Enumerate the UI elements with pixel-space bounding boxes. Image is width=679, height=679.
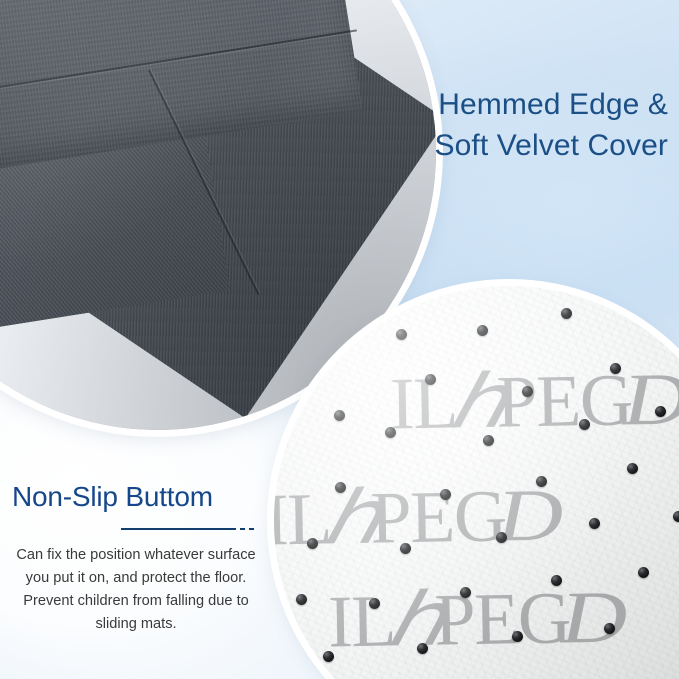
promo-graphic-canvas: ILℎPEGD ILℎPEGD ILℎPEGD Hemmed Edge & So… (0, 0, 679, 679)
feature-body-line: sliding mats. (12, 613, 260, 636)
anti-slip-dot (536, 476, 547, 487)
feature-description: Can fix the position whatever surface yo… (12, 544, 260, 636)
anti-slip-dot (323, 651, 334, 662)
divider-dash-2 (249, 528, 254, 530)
anti-slip-dot (425, 374, 436, 385)
anti-slip-dot (604, 623, 615, 634)
anti-slip-dot (627, 463, 638, 474)
headline-line-1: Hemmed Edge & (438, 88, 668, 121)
anti-slip-dot (512, 631, 523, 642)
feature-body-line: Can fix the position whatever surface (12, 544, 260, 567)
anti-slip-dot (296, 594, 307, 605)
anti-slip-dot (496, 532, 507, 543)
anti-slip-dot (307, 538, 318, 549)
anti-slip-dot (579, 419, 590, 430)
anti-slip-dot (522, 386, 533, 397)
brand-watermark-3: ILℎPEGD (327, 573, 616, 665)
anti-slip-dot (440, 489, 451, 500)
divider-dash-1 (240, 528, 245, 530)
anti-slip-dot (334, 410, 345, 421)
anti-slip-dot (655, 406, 666, 417)
anti-slip-dot (335, 482, 346, 493)
anti-slip-dot (561, 308, 572, 319)
brand-watermark-1: ILℎPEGD (389, 355, 678, 447)
divider-line (121, 528, 236, 530)
anti-slip-dot (385, 427, 396, 438)
headline-line-2: Soft Velvet Cover (435, 125, 668, 166)
feature-divider (12, 528, 260, 530)
brand-watermark-2: ILℎPEGD (274, 471, 553, 563)
headline-block: Hemmed Edge & Soft Velvet Cover (435, 84, 668, 167)
anti-slip-dot (483, 435, 494, 446)
anti-slip-dot (460, 587, 471, 598)
anti-slip-dot (551, 575, 562, 586)
anti-slip-dot (673, 511, 679, 522)
anti-slip-dot (396, 329, 407, 340)
feature-body-line: Prevent children from falling due to (12, 590, 260, 613)
non-slip-mat-photo-circle: ILℎPEGD ILℎPEGD ILℎPEGD (274, 286, 679, 679)
anti-slip-dot (369, 598, 380, 609)
non-slip-mat-image: ILℎPEGD ILℎPEGD ILℎPEGD (274, 286, 679, 679)
anti-slip-dot (610, 363, 621, 374)
anti-slip-dot (477, 325, 488, 336)
anti-slip-dot (400, 543, 411, 554)
anti-slip-dot (589, 518, 600, 529)
feature-block: Non-Slip Buttom Can fix the position wha… (12, 480, 260, 636)
anti-slip-dot (417, 643, 428, 654)
feature-title: Non-Slip Buttom (12, 480, 260, 514)
feature-body-line: you put it on, and protect the floor. (12, 567, 260, 590)
anti-slip-dot (638, 567, 649, 578)
